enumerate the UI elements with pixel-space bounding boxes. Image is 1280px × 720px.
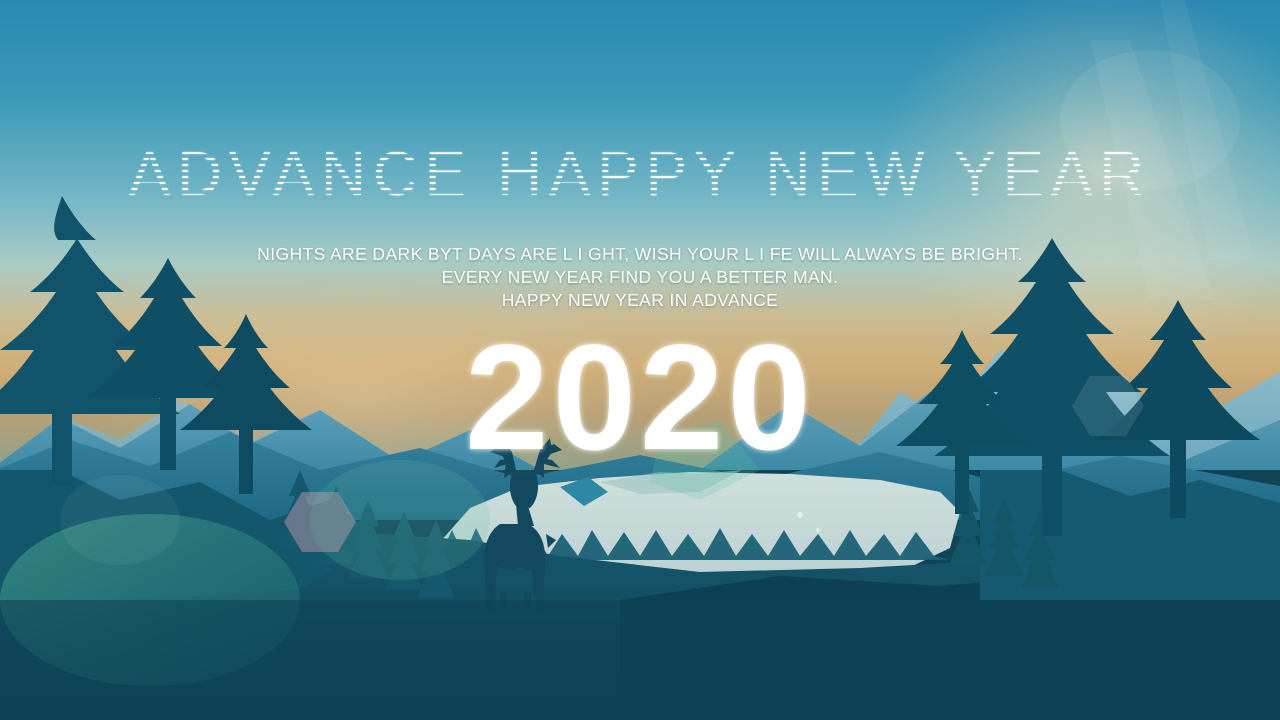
bottom-vignette (0, 600, 1280, 720)
background-illustration (0, 0, 1280, 720)
lake-sparkle-2 (816, 528, 821, 533)
greeting-card: ADVANCE HAPPY NEW YEAR NIGHTS ARE DARK B… (0, 0, 1280, 720)
lake-sparkle (797, 512, 803, 518)
scene-svg (0, 0, 1280, 720)
bokeh-soft-left (60, 475, 180, 565)
bokeh-soft-right (1060, 50, 1240, 190)
bokeh-mint-mid (310, 460, 490, 580)
